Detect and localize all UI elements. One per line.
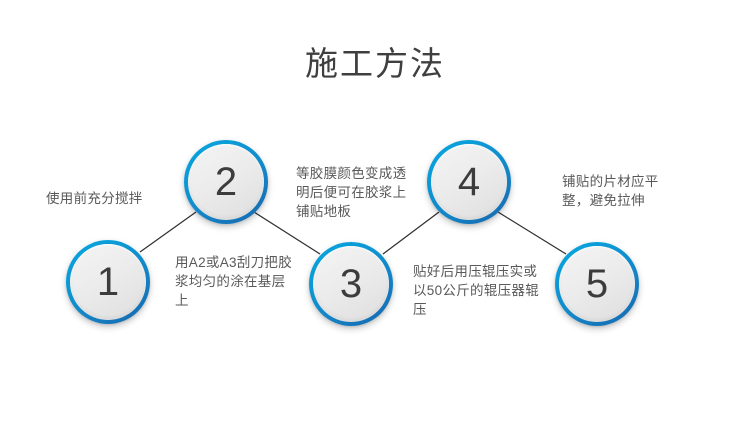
step-number-5: 5 (586, 264, 608, 304)
step-inner-3: 3 (313, 246, 389, 322)
step-caption-1: 使用前充分搅拌 (46, 189, 171, 208)
step-caption-2: 用A2或A3刮刀把胶浆均匀的涂在基层上 (175, 253, 295, 310)
step-node-5[interactable]: 5 (555, 242, 639, 326)
step-inner-2: 2 (188, 144, 264, 220)
page-title: 施工方法 (0, 44, 750, 84)
step-node-3[interactable]: 3 (309, 242, 393, 326)
step-number-3: 3 (340, 264, 362, 304)
step-node-4[interactable]: 4 (427, 140, 511, 224)
step-inner-1: 1 (70, 244, 146, 320)
connector-4-5 (498, 212, 566, 254)
diagram-canvas: 施工方法 1 使用前充分搅拌 2 用A2或A3刮刀把胶浆均匀的涂在基层上 3 等… (0, 0, 750, 422)
step-caption-5: 铺贴的片材应平整，避免拉伸 (562, 172, 682, 210)
step-caption-3: 等胶膜颜色变成透明后便可在胶浆上铺贴地板 (296, 164, 414, 221)
step-caption-4: 贴好后用压辊压实或以50公斤的辊压器辊压 (413, 262, 541, 319)
step-node-1[interactable]: 1 (66, 240, 150, 324)
connector-1-2 (140, 212, 196, 252)
step-inner-4: 4 (431, 144, 507, 220)
step-number-1: 1 (97, 262, 119, 302)
step-inner-5: 5 (559, 246, 635, 322)
step-number-2: 2 (215, 162, 237, 202)
step-number-4: 4 (458, 162, 480, 202)
step-node-2[interactable]: 2 (184, 140, 268, 224)
